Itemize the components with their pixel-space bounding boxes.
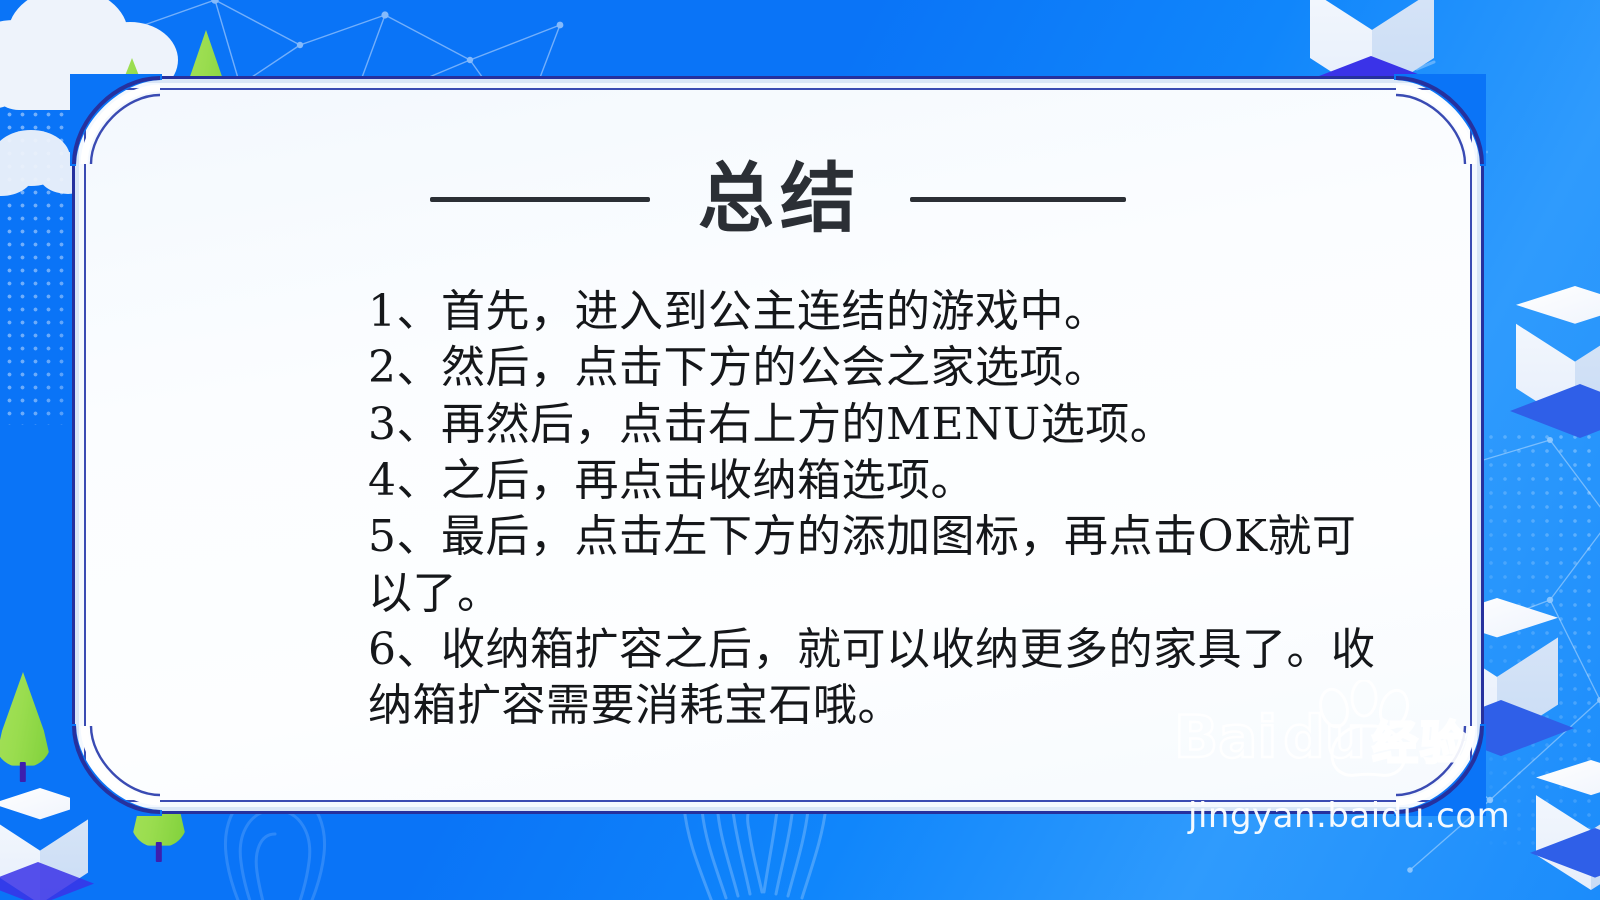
- summary-line-4: 4、之后，再点击收纳箱选项。: [368, 453, 1384, 509]
- summary-text-block: 1、首先，进入到公主连结的游戏中。 2、然后，点击下方的公会之家选项。 3、再然…: [368, 284, 1384, 735]
- cube-shadow-bottom-left: [0, 862, 94, 900]
- corner-notch-top-left: [70, 74, 162, 166]
- page-title-row: 总结: [72, 161, 1484, 237]
- page-title: 总结: [698, 161, 862, 237]
- summary-line-1: 1、首先，进入到公主连结的游戏中。: [368, 284, 1384, 340]
- corner-notch-bottom-left: [70, 724, 162, 816]
- isometric-cube-right-mid: [1516, 286, 1600, 426]
- isometric-cube-corner: [1536, 760, 1600, 890]
- corner-notch-top-right: [1394, 74, 1486, 166]
- summary-line-5: 5、最后，点击左下方的添加图标，再点击OK就可以了。: [368, 509, 1384, 622]
- corner-notch-bottom-right: [1394, 724, 1486, 816]
- summary-line-2: 2、然后，点击下方的公会之家选项。: [368, 340, 1384, 396]
- summary-line-3: 3、再然后，点击右上方的MENU选项。: [368, 397, 1384, 453]
- slide-canvas: 总结 1、首先，进入到公主连结的游戏中。 2、然后，点击下方的公会之家选项。 3…: [0, 0, 1600, 900]
- tree-icon-3: [0, 672, 52, 782]
- content-card: 总结 1、首先，进入到公主连结的游戏中。 2、然后，点击下方的公会之家选项。 3…: [72, 76, 1484, 814]
- cube-shadow-right-mid: [1510, 384, 1600, 484]
- summary-line-6: 6、收纳箱扩容之后，就可以收纳更多的家具了。收纳箱扩容需要消耗宝石哦。: [368, 622, 1384, 735]
- cube-shadow-corner: [1530, 828, 1600, 900]
- title-rule-right: [910, 197, 1126, 202]
- title-rule-left: [430, 197, 650, 202]
